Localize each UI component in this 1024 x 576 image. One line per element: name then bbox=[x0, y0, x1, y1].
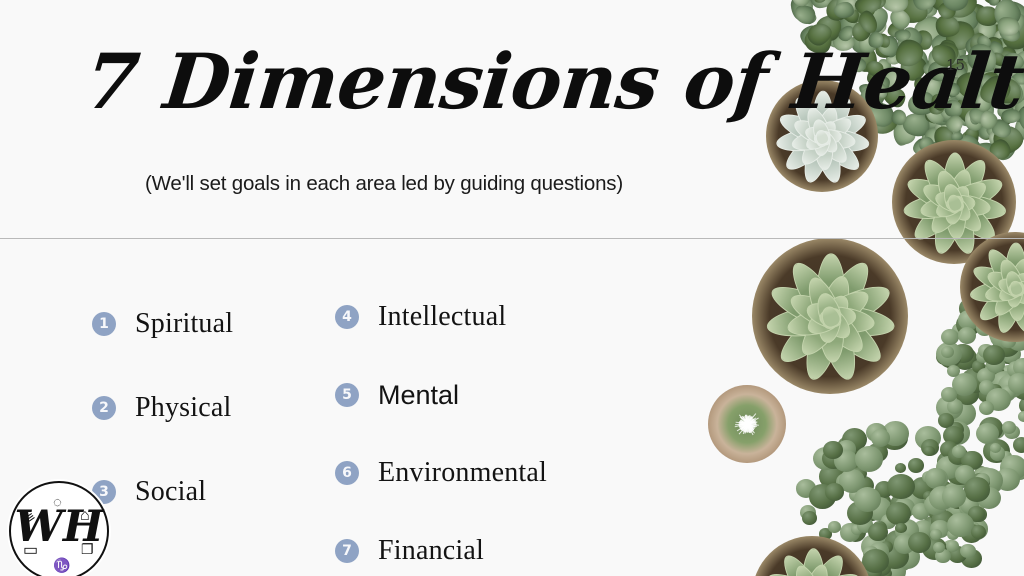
number-badge: 5 bbox=[335, 383, 359, 407]
laptop-icon: ▭ bbox=[23, 543, 38, 559]
dimensions-column-left: 1 Spiritual 2 Physical 3 Social bbox=[92, 282, 233, 534]
dimension-label-spiritual: Spiritual bbox=[135, 308, 233, 340]
list-item[interactable]: 6 Environmental bbox=[335, 434, 547, 512]
page-subtitle: (We'll set goals in each area led by gui… bbox=[145, 172, 623, 196]
dimension-label-mental: Mental bbox=[378, 380, 459, 411]
number-badge: 4 bbox=[335, 305, 359, 329]
brand-logo: WH ◌ ⌂ ≡ ▭ ❐ ♑ bbox=[7, 479, 111, 576]
list-item[interactable]: 7 Financial bbox=[335, 512, 547, 576]
number-badge: 1 bbox=[92, 312, 116, 336]
praying-hands-icon: ♑ bbox=[53, 558, 70, 572]
dimension-label-social: Social bbox=[135, 476, 206, 508]
number-badge: 6 bbox=[335, 461, 359, 485]
page-title: 7 Dimensions of Health bbox=[82, 44, 1024, 120]
slide-canvas: 7 Dimensions of Health (We'll set goals … bbox=[0, 0, 1024, 576]
header-divider bbox=[0, 238, 1024, 239]
house-icon: ⌂ bbox=[80, 508, 90, 524]
dimension-label-environmental: Environmental bbox=[378, 457, 547, 489]
list-item[interactable]: 5 Mental bbox=[335, 356, 547, 434]
number-badge: 2 bbox=[92, 396, 116, 420]
dimensions-column-right: 4 Intellectual 5 Mental 6 Environmental … bbox=[335, 278, 547, 576]
brain-icon: ◌ bbox=[53, 495, 62, 510]
list-item[interactable]: 4 Intellectual bbox=[335, 278, 547, 356]
speech-bubbles-icon: ❐ bbox=[81, 542, 94, 556]
page-number: 15 bbox=[946, 56, 965, 74]
dimension-label-physical: Physical bbox=[135, 392, 231, 424]
list-item[interactable]: 1 Spiritual bbox=[92, 282, 233, 366]
dimension-label-financial: Financial bbox=[378, 535, 484, 567]
dimension-label-intellectual: Intellectual bbox=[378, 301, 506, 333]
dimensions-list: 1 Spiritual 2 Physical 3 Social 4 Intell… bbox=[0, 238, 1024, 576]
list-item[interactable]: 3 Social bbox=[92, 450, 233, 534]
number-badge: 7 bbox=[335, 539, 359, 563]
slide-header: 7 Dimensions of Health (We'll set goals … bbox=[0, 0, 1024, 238]
list-item[interactable]: 2 Physical bbox=[92, 366, 233, 450]
